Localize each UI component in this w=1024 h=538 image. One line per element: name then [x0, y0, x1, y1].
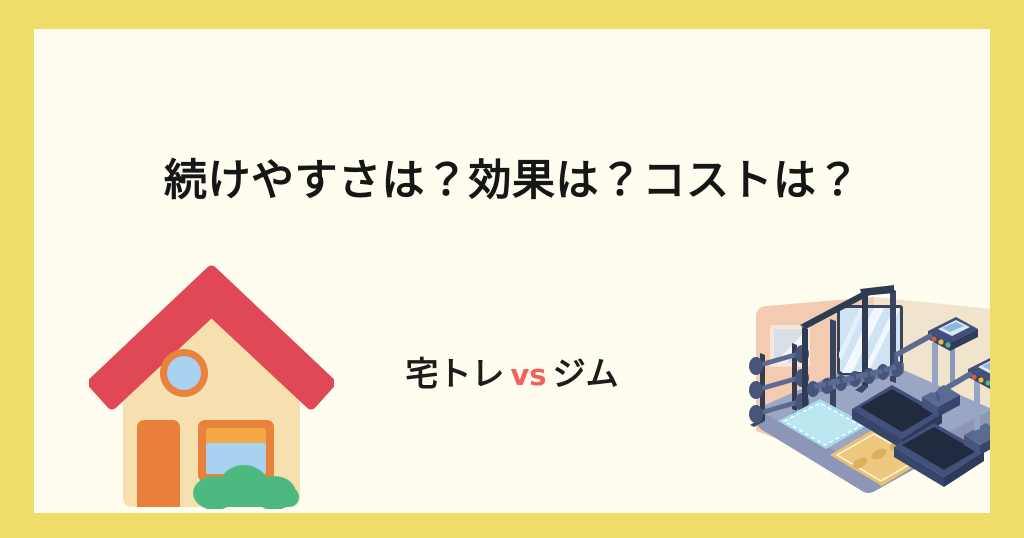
poster-inner-panel: 続けやすさは？効果は？コストは？ 宅トレvsジム	[34, 29, 990, 513]
poster-canvas: 続けやすさは？効果は？コストは？ 宅トレvsジム	[0, 0, 1024, 538]
comparison-right-label: ジム	[553, 354, 619, 393]
gym-room-icon	[734, 269, 990, 513]
page-title: 続けやすさは？効果は？コストは？	[34, 158, 990, 205]
comparison-left-label: 宅トレ	[405, 354, 504, 393]
house-icon	[89, 265, 334, 509]
comparison-vs-label: vs	[504, 358, 552, 392]
home-illustration	[89, 265, 334, 509]
gym-illustration	[734, 269, 990, 513]
